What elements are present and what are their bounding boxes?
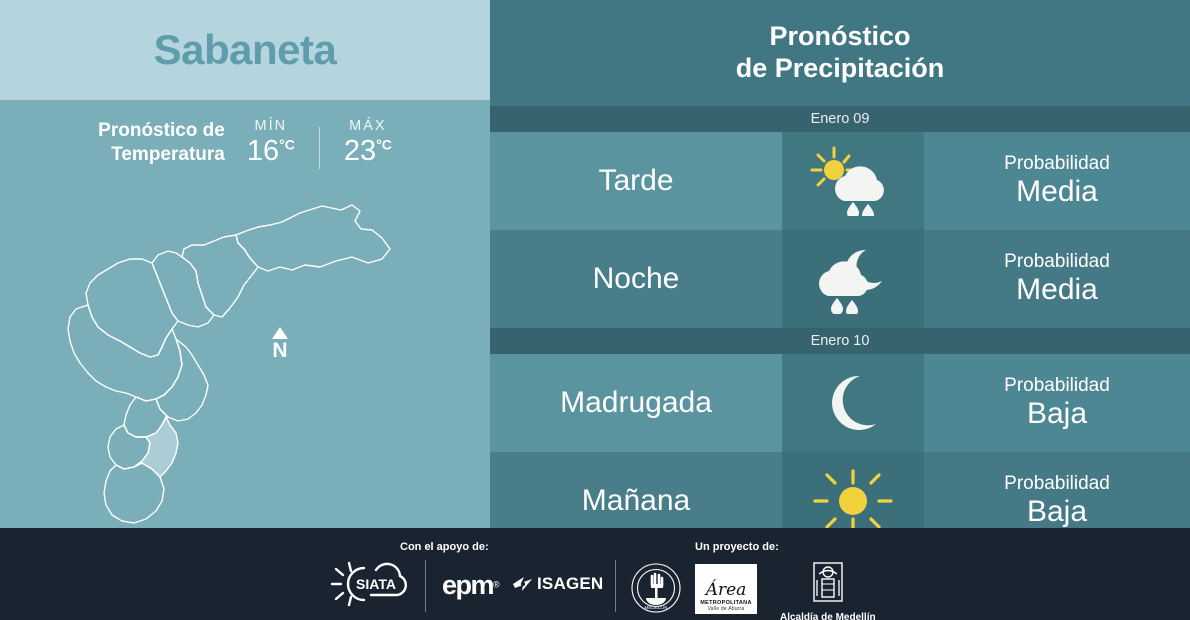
temperature-min: MÍN 16°C — [247, 118, 295, 168]
probability-word: Probabilidad — [1004, 154, 1110, 175]
isagen-mark-icon — [512, 575, 534, 593]
map-region-medellin — [68, 305, 182, 401]
isagen-logo: ISAGEN — [512, 574, 603, 594]
map-region-copacabana — [152, 251, 214, 327]
temperature-divider — [319, 127, 320, 169]
temperature-min-label: MÍN — [247, 118, 295, 134]
temperature-min-unit: °C — [279, 136, 295, 152]
sun-rain-cloud-icon — [810, 146, 896, 216]
temperature-max-value: 23 — [344, 135, 376, 167]
city-name: Sabaneta — [154, 26, 337, 74]
probability-word: Probabilidad — [1004, 376, 1110, 397]
forecast-icon-cell — [782, 230, 924, 328]
temperature-min-value: 16 — [247, 135, 279, 167]
area-metropolitana-logo: Área METROPOLITANA Valle de Aburrá — [695, 564, 757, 614]
siata-logo: SIATA — [330, 560, 420, 613]
forecast-row-madrugada[interactable]: Madrugada Probabilidad Baja — [490, 354, 1190, 452]
forecast-row-tarde[interactable]: Tarde — [490, 132, 1190, 230]
moon-shape — [832, 376, 876, 430]
area-subtitle-2: Valle de Aburrá — [708, 606, 745, 612]
city-header: Sabaneta — [0, 0, 490, 100]
area-script-wordmark: Área — [706, 582, 747, 599]
temperature-title-line2: Temperatura — [98, 143, 225, 167]
date-band-enero-09: Enero 09 — [490, 106, 1190, 132]
project-label: Un proyecto de: — [695, 541, 779, 553]
cloud-shape — [819, 261, 868, 296]
compass-north-label: N — [272, 340, 288, 361]
forecast-row-noche[interactable]: Noche Probabilidad Media — [490, 230, 1190, 328]
logo-divider — [615, 560, 616, 612]
forecast-period-label: Mañana — [582, 484, 690, 518]
date-label: Enero 09 — [811, 111, 870, 127]
temperature-title-line1: Pronóstico de — [98, 119, 225, 143]
forecast-icon-cell — [782, 132, 924, 230]
siata-wordmark: SIATA — [356, 576, 396, 592]
temperature-max-unit: °C — [376, 136, 392, 152]
map-region-sabaneta — [134, 417, 178, 477]
sun-disc — [824, 160, 844, 180]
date-label: Enero 10 — [811, 333, 870, 349]
map-region-barbosa — [236, 205, 390, 271]
raindrop — [862, 204, 874, 216]
temperature-max-label: MÁX — [344, 118, 392, 134]
forecast-period-cell: Tarde — [490, 132, 782, 230]
weather-forecast-card: Sabaneta Pronóstico de Temperatura MÍN 1… — [0, 0, 1190, 620]
footer-logos: Con el apoyo de: Un proyecto de: — [320, 528, 880, 620]
epm-wordmark: epm — [442, 570, 493, 600]
temperature-max: MÁX 23°C — [344, 118, 392, 168]
raindrop — [847, 202, 859, 216]
precipitation-header: Pronóstico de Precipitación — [490, 0, 1190, 106]
raindrop — [846, 300, 858, 314]
sun-disc — [839, 487, 867, 515]
precipitation-title-line2: de Precipitación — [736, 53, 945, 85]
forecast-period-cell: Noche — [490, 230, 782, 328]
precipitation-title-line1: Pronóstico — [769, 21, 910, 53]
forecast-icon-cell — [782, 354, 924, 452]
alcaldia-wordmark: Alcaldía de Medellín — [780, 612, 876, 620]
map-region-envigado — [156, 339, 208, 421]
map-svg — [0, 175, 490, 528]
municipality-map: N — [0, 175, 490, 528]
udea-seal-icon: MEDELLIN — [630, 562, 682, 614]
support-label: Con el apoyo de: — [400, 541, 489, 553]
probability-word: Probabilidad — [1004, 252, 1110, 273]
left-panel: Sabaneta Pronóstico de Temperatura MÍN 1… — [0, 0, 490, 528]
alcaldia-medellin-logo: Alcaldía de Medellín — [780, 562, 876, 620]
epm-logo: epm® — [442, 570, 500, 601]
siata-logo-icon: SIATA — [330, 560, 420, 608]
probability-level: Media — [1016, 176, 1098, 208]
footer: Con el apoyo de: Un proyecto de: — [0, 528, 1190, 620]
forecast-period-label: Madrugada — [560, 386, 712, 420]
probability-level: Baja — [1027, 496, 1087, 528]
epm-registered-mark: ® — [493, 580, 500, 590]
forecast-period-cell: Madrugada — [490, 354, 782, 452]
forecast-probability-cell: Probabilidad Media — [924, 230, 1190, 328]
temperature-summary: Pronóstico de Temperatura MÍN 16°C MÁX 2… — [0, 108, 490, 178]
forecast-probability-cell: Probabilidad Media — [924, 132, 1190, 230]
temperature-max-value-group: 23°C — [344, 135, 392, 168]
temperature-min-value-group: 16°C — [247, 135, 295, 168]
forecast-probability-cell: Probabilidad Baja — [924, 354, 1190, 452]
sun-icon — [810, 466, 896, 536]
moon-rain-cloud-icon — [810, 244, 896, 314]
alcaldia-crest-icon — [811, 562, 845, 604]
compass-rose: N — [272, 327, 288, 361]
logo-divider — [425, 560, 426, 612]
probability-level: Media — [1016, 274, 1098, 306]
precipitation-panel: Pronóstico de Precipitación Enero 09 Tar… — [490, 0, 1190, 528]
udea-logo: MEDELLIN — [630, 562, 682, 619]
isagen-wordmark: ISAGEN — [537, 574, 603, 594]
probability-level: Baja — [1027, 398, 1087, 430]
forecast-period-label: Tarde — [598, 164, 673, 198]
temperature-title: Pronóstico de Temperatura — [98, 119, 225, 168]
raindrop — [831, 298, 843, 314]
compass-arrow-icon — [272, 327, 288, 339]
area-logo-box: Área METROPOLITANA Valle de Aburrá — [695, 564, 757, 614]
map-region-girardota — [182, 235, 258, 317]
moon-icon — [810, 368, 896, 438]
forecast-period-label: Noche — [593, 262, 680, 296]
date-band-enero-10: Enero 10 — [490, 328, 1190, 354]
udea-seal-text: MEDELLIN — [645, 605, 668, 610]
probability-word: Probabilidad — [1004, 474, 1110, 495]
